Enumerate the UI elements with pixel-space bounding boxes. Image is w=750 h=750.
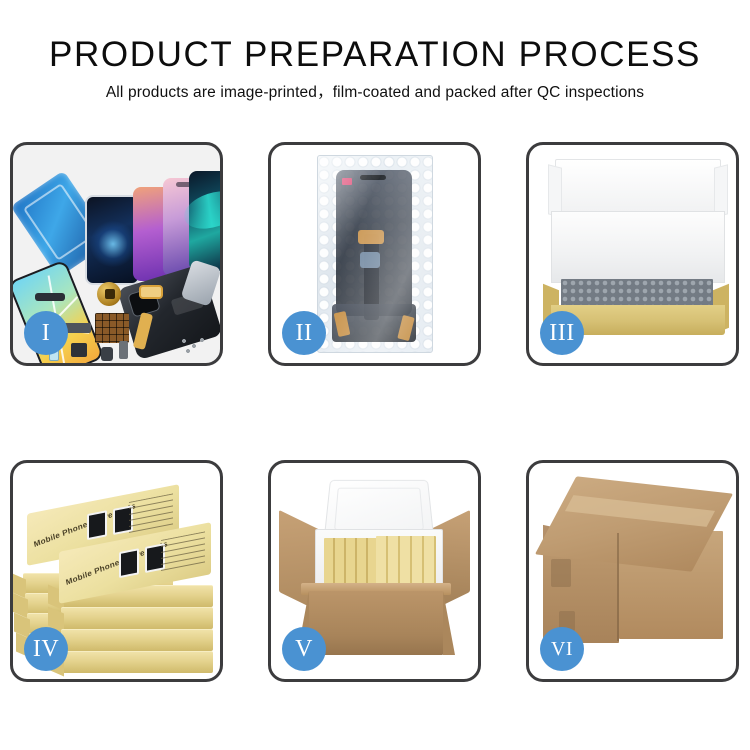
process-step-panel-3: III <box>526 142 739 366</box>
step-number-badge-5: V <box>282 627 326 671</box>
cable-connector-icon <box>358 230 384 244</box>
teal-phone-icon <box>189 171 220 271</box>
camera-module-icon <box>71 343 87 357</box>
qc-sticker-icon <box>342 178 352 185</box>
white-foam-sheet-icon <box>551 211 725 283</box>
carton-handle-tab <box>551 559 571 587</box>
page-header: PRODUCT PREPARATION PROCESS All products… <box>0 34 750 103</box>
ic-chip-icon <box>360 252 380 268</box>
page-subtitle: All products are image-printed，film-coat… <box>0 83 750 103</box>
battery-cell-icon <box>101 347 113 361</box>
process-step-panel-4: Mobile Phone Spare Parts Mobile Phone Sp… <box>10 460 223 682</box>
open-foam-box-icon <box>545 159 727 339</box>
stacked-box <box>61 651 213 673</box>
stacked-box <box>61 629 213 651</box>
chip-component-icon <box>95 313 129 343</box>
process-step-grid: I II <box>10 142 741 682</box>
retail-boxes-row <box>376 536 436 586</box>
step-number-badge-3: III <box>540 311 584 355</box>
process-step-panel-5: V <box>268 460 481 682</box>
product-preparation-process-page: PRODUCT PREPARATION PROCESS All products… <box>0 0 750 750</box>
step-number-badge-4: IV <box>24 627 68 671</box>
tempered-glass-screen-icon <box>85 195 140 285</box>
foam-box-icon <box>315 529 443 591</box>
process-step-panel-2: II <box>268 142 481 366</box>
page-title: PRODUCT PREPARATION PROCESS <box>0 34 750 76</box>
carton-edge-seam <box>617 533 619 641</box>
bubble-wrap-bag-icon <box>317 155 433 353</box>
connector-pin-icon <box>119 341 128 359</box>
stacked-box <box>61 607 213 629</box>
carton-front-panel <box>309 591 443 655</box>
process-step-panel-1: I <box>10 142 223 366</box>
flex-cable-icon <box>139 285 163 299</box>
screws-icon <box>180 337 206 355</box>
vibration-motor-icon <box>97 282 121 306</box>
process-step-panel-6: VI <box>526 460 739 682</box>
step-number-badge-6: VI <box>540 627 584 671</box>
box-lid-icon <box>555 159 721 217</box>
step-number-badge-1: I <box>24 311 68 355</box>
speaker-module-icon <box>35 293 65 301</box>
step-number-badge-2: II <box>282 311 326 355</box>
